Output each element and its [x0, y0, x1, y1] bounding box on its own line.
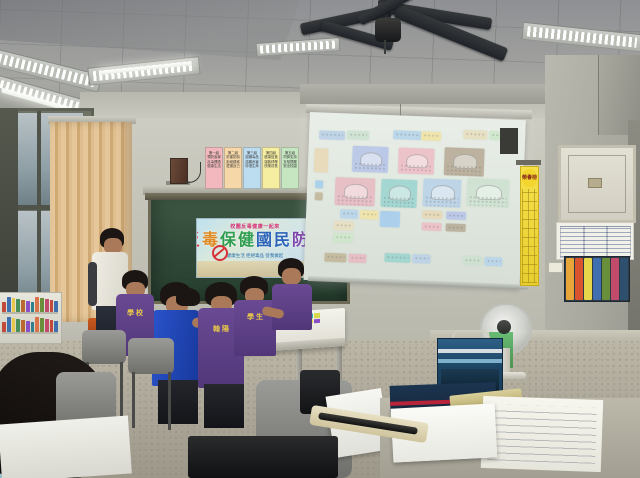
- teacher-bag-strap: [88, 262, 97, 306]
- recessed-wall-panel: [558, 145, 636, 223]
- slide-card: [380, 211, 401, 228]
- game-card[interactable]: [314, 318, 320, 323]
- student-blue-shorts: [158, 380, 198, 424]
- book: [16, 299, 20, 312]
- book: [40, 318, 44, 332]
- slide-card-dots: [448, 213, 464, 218]
- wall-poster: 第四組 健康促進 運動紓壓 快樂成長: [262, 147, 280, 189]
- slide-card: [422, 210, 442, 219]
- banner-character: 民: [274, 232, 290, 249]
- slide-card-dots: [448, 225, 464, 230]
- slide-card: [324, 253, 346, 263]
- student-purple-2-shorts: [204, 384, 244, 428]
- slide-card-dots: [342, 211, 356, 217]
- slide-card: [319, 130, 345, 140]
- slide-card: [334, 177, 375, 207]
- book: [26, 321, 30, 332]
- book: [7, 297, 11, 312]
- light-switch[interactable]: [548, 262, 563, 273]
- student-purple-4-shirt: [272, 284, 312, 330]
- honor-roll-title: 榮譽榜: [522, 169, 537, 187]
- slide-card-dots: [336, 194, 372, 205]
- slide-card: [446, 223, 466, 232]
- slide-card: [467, 178, 510, 208]
- book: [2, 302, 6, 312]
- book: [45, 319, 49, 332]
- slide-card-dots: [326, 255, 344, 261]
- student-purple-5-hair: [176, 288, 200, 306]
- slide-card: [360, 210, 378, 220]
- slide-card: [333, 233, 353, 243]
- book: [12, 318, 16, 332]
- notice-board-poster: [575, 258, 583, 300]
- book: [45, 299, 49, 312]
- banner-character: 健: [238, 232, 254, 249]
- notice-board-poster: [620, 258, 628, 300]
- slide-card-dots: [446, 165, 482, 176]
- book: [31, 302, 35, 312]
- slide-card: [463, 130, 487, 140]
- classroom-notice-board[interactable]: [564, 256, 630, 302]
- book: [35, 317, 39, 332]
- slide-card-dots: [464, 258, 480, 264]
- slide-card-dots: [386, 255, 408, 261]
- slide-card-dots: [423, 133, 439, 139]
- black-monitor[interactable]: [188, 436, 338, 478]
- slide-card: [421, 131, 441, 141]
- notice-board-poster: [611, 258, 619, 300]
- honor-roll-grid: [522, 189, 537, 283]
- wall-mounted-box: [500, 128, 518, 154]
- slide-card-dots: [349, 133, 367, 139]
- slide-card: [348, 254, 366, 264]
- book: [21, 300, 25, 312]
- slide-card: [333, 221, 353, 231]
- slide-card: [314, 148, 329, 173]
- book: [40, 298, 44, 312]
- slide-card: [315, 180, 323, 188]
- wall-poster: 第二組 菸害防制 拒絕誘惑 愛護自己: [224, 147, 242, 189]
- notice-board-poster: [593, 258, 601, 300]
- chair[interactable]: [82, 330, 126, 364]
- banner-top-line: 校園反毒健康一起來: [197, 223, 313, 230]
- slide-card-dots: [336, 223, 352, 229]
- uniform-back-text: 學 校: [127, 310, 143, 318]
- notice-board-poster: [566, 258, 574, 300]
- book: [16, 319, 20, 332]
- no-smoking-icon: [212, 245, 228, 261]
- book: [26, 301, 30, 312]
- slide-card: [446, 211, 466, 220]
- panel-nameplate: [588, 178, 602, 188]
- window-side-column: [0, 108, 18, 308]
- honor-roll-banner: 榮譽榜: [520, 166, 539, 286]
- slide-card-dots: [321, 132, 343, 138]
- projection-screen: [304, 112, 526, 288]
- slide-card-dots: [469, 196, 507, 207]
- slide-card: [340, 209, 358, 219]
- wall-poster: 第五組 同儕支持 互相提醒 安全校園: [281, 147, 299, 189]
- book: [21, 320, 25, 332]
- book: [50, 320, 54, 332]
- book: [35, 297, 39, 312]
- game-card[interactable]: [314, 313, 320, 318]
- slide-card-dots: [425, 196, 459, 207]
- slide-card: [393, 130, 421, 140]
- slide-card: [347, 130, 369, 140]
- book: [7, 317, 11, 332]
- book: [12, 298, 16, 312]
- wall-poster: 第三組 認識毒品 遠離危害 珍惜生命: [243, 147, 261, 189]
- book: [54, 321, 58, 332]
- chair[interactable]: [128, 338, 174, 374]
- class-schedule-notice[interactable]: [556, 222, 634, 260]
- banner-hanger: [516, 160, 541, 165]
- uniform-back-text: 學 生: [247, 314, 263, 322]
- wall-poster-strip: 第一組 預防宣導 反毒標語 健康生活第二組 菸害防制 拒絕誘惑 愛護自己第三組 …: [205, 147, 299, 181]
- slide-card: [444, 147, 485, 177]
- slide-card: [384, 253, 410, 263]
- slide-card-dots: [486, 259, 500, 265]
- notice-board-poster: [584, 258, 592, 300]
- projected-slide: [310, 124, 520, 280]
- slide-card: [398, 147, 435, 174]
- slide-card-dots: [465, 132, 485, 138]
- book: [54, 301, 58, 312]
- foreground-paper[interactable]: [0, 416, 132, 478]
- slide-card-dots: [414, 256, 428, 262]
- wall-poster: 第一組 預防宣導 反毒標語 健康生活: [205, 147, 223, 189]
- slide-card-dots: [350, 256, 364, 262]
- book: [2, 322, 6, 332]
- banner-character: 反: [196, 232, 200, 249]
- slide-card: [462, 256, 482, 266]
- pedestal-fan-hub: [497, 320, 511, 334]
- slide-card-dots: [354, 162, 386, 172]
- uniform-back-text: 翰 陽: [213, 326, 229, 334]
- slide-card-dots: [424, 224, 440, 229]
- book: [50, 300, 54, 312]
- slide-card: [422, 222, 442, 231]
- fan-motor-housing: [375, 18, 401, 42]
- book: [31, 322, 35, 332]
- slide-card: [352, 146, 389, 173]
- bookshelf: [0, 292, 62, 344]
- slide-card-dots: [382, 196, 414, 207]
- slide-card-dots: [335, 235, 351, 241]
- slide-card: [422, 178, 461, 207]
- slide-card-dots: [362, 212, 376, 218]
- slide-card-dots: [395, 132, 419, 138]
- classroom-photo: 第一組 預防宣導 反毒標語 健康生活第二組 菸害防制 拒絕誘惑 愛護自己第三組 …: [0, 0, 640, 478]
- slide-card: [484, 257, 502, 267]
- slide-card: [315, 192, 323, 200]
- slide-card: [412, 254, 430, 264]
- slide-card-dots: [400, 164, 432, 174]
- slide-card-dots: [424, 212, 440, 217]
- ceiling-beam: [300, 84, 550, 104]
- banner-character: 國: [256, 232, 272, 249]
- notice-board-poster: [602, 258, 610, 300]
- student-purple-4-head: [282, 268, 301, 285]
- fan-pull-chain: [384, 40, 386, 54]
- printed-form[interactable]: [481, 396, 603, 472]
- slide-card: [380, 179, 417, 208]
